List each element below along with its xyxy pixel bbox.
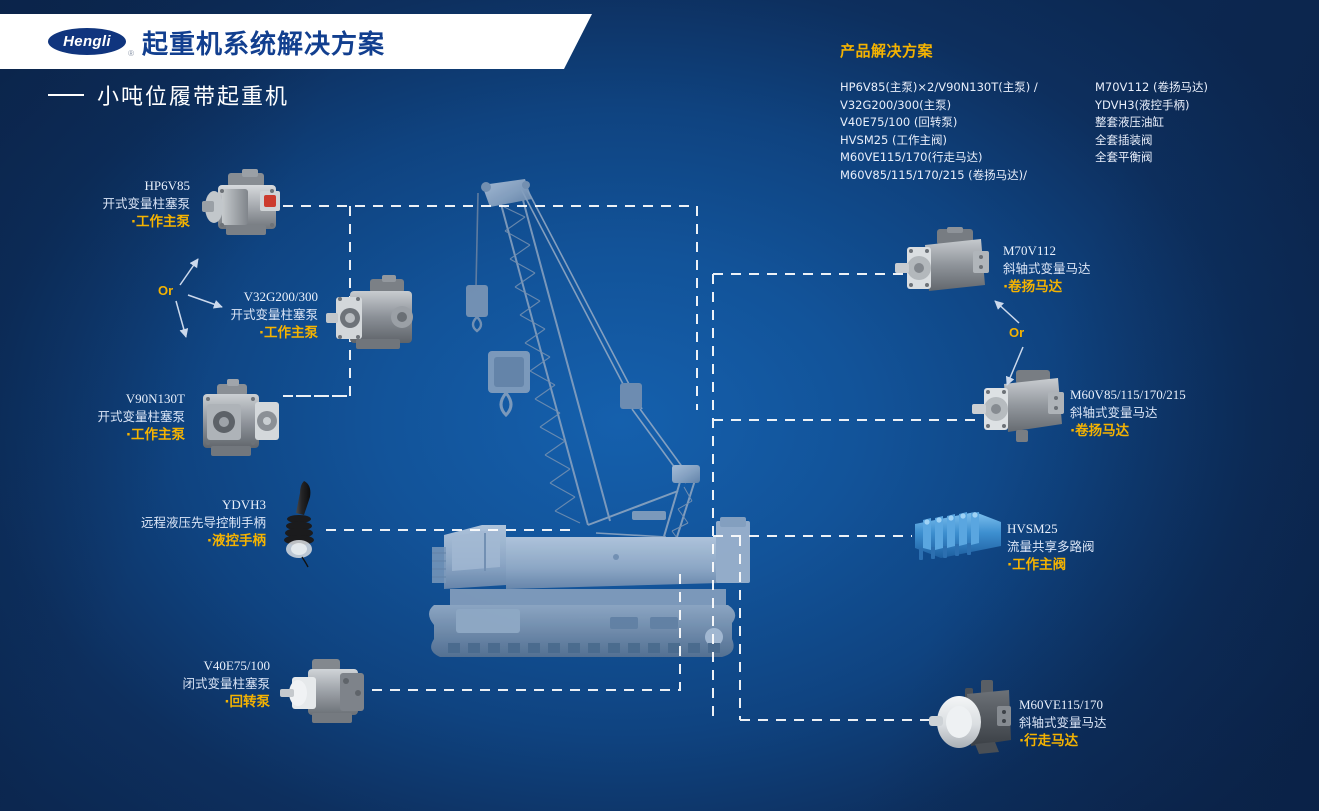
solutions-columns: HP6V85(主泵)×2/V90N130T(主泵) / V32G200/300(… [840,79,1295,184]
component-role: ·行走马达 [1019,732,1219,750]
solutions-title: 产品解决方案 [840,40,1295,61]
logo-text: Hengli [48,28,126,55]
chevron-decoration [478,14,558,69]
component-label-m60v85: M60V85/115/170/215 斜轴式变量马达 ·卷扬马达 [1070,386,1290,440]
component-desc: 开式变量柱塞泵 [80,195,190,213]
component-code: V40E75/100 [150,657,270,675]
component-code: HP6V85 [80,177,190,195]
registered-mark-icon: ® [128,49,134,58]
page-title: 起重机系统解决方案 [142,24,385,61]
solution-item: M60VE115/170(行走马达) [840,149,1095,167]
component-label-ydvh3: YDVH3 远程液压先导控制手柄 ·液控手柄 [126,496,266,550]
multi-way-valve-image [905,506,1005,564]
solution-item: M70V112 (卷扬马达) [1095,79,1295,97]
solution-item: M60V85/115/170/215 (卷扬马达)/ [840,167,1095,185]
component-desc: 斜轴式变量马达 [1019,714,1219,732]
component-label-hp6v85: HP6V85 开式变量柱塞泵 ·工作主泵 [80,177,190,231]
axial-piston-pump-image [326,275,426,357]
solution-item: YDVH3(液控手柄) [1095,97,1295,115]
or-arrows-left [150,245,260,355]
hengli-logo[interactable]: Hengli ® [48,28,126,55]
product-solutions-panel: 产品解决方案 HP6V85(主泵)×2/V90N130T(主泵) / V32G2… [840,40,1295,184]
solution-item: HP6V85(主泵)×2/V90N130T(主泵) / [840,79,1095,97]
component-label-hvsm25: HVSM25 流量共享多路阀 ·工作主阀 [1007,520,1197,574]
component-role: ·工作主泵 [80,213,190,231]
component-code: M60V85/115/170/215 [1070,386,1290,404]
subtitle-row: 小吨位履带起重机 [48,79,289,111]
component-role: ·液控手柄 [126,532,266,550]
solution-item: 全套平衡阀 [1095,149,1295,167]
component-label-v40e75: V40E75/100 闭式变量柱塞泵 ·回转泵 [150,657,270,711]
solution-item: 全套插装阀 [1095,132,1295,150]
solutions-column-left: HP6V85(主泵)×2/V90N130T(主泵) / V32G200/300(… [840,79,1095,184]
travel-motor-image [925,678,1019,760]
solution-item: V40E75/100 (回转泵) [840,114,1095,132]
component-desc: 斜轴式变量马达 [1003,260,1183,278]
component-role: ·卷扬马达 [1070,422,1290,440]
subtitle-dash-icon [48,94,84,96]
component-desc: 闭式变量柱塞泵 [150,675,270,693]
component-role: ·工作主泵 [85,426,185,444]
component-desc: 斜轴式变量马达 [1070,404,1290,422]
component-role: ·工作主阀 [1007,556,1197,574]
component-code: YDVH3 [126,496,266,514]
component-role: ·回转泵 [150,693,270,711]
component-desc: 流量共享多路阀 [1007,538,1197,556]
solutions-column-right: M70V112 (卷扬马达) YDVH3(液控手柄) 整套液压油缸 全套插装阀 … [1095,79,1295,184]
or-arrows-right [985,295,1065,395]
component-label-m70v112: M70V112 斜轴式变量马达 ·卷扬马达 [1003,242,1183,296]
component-code: M60VE115/170 [1019,696,1219,714]
axial-piston-pump-image [189,378,285,466]
component-desc: 开式变量柱塞泵 [85,408,185,426]
component-desc: 远程液压先导控制手柄 [126,514,266,532]
or-marker-left: Or [158,283,173,298]
solution-item: V32G200/300(主泵) [840,97,1095,115]
crawler-crane-illustration [420,165,790,685]
component-code: M70V112 [1003,242,1183,260]
bent-axis-motor-image [895,227,993,307]
component-label-m60ve115: M60VE115/170 斜轴式变量马达 ·行走马达 [1019,696,1219,750]
component-code: HVSM25 [1007,520,1197,538]
solution-item: HVSM25 (工作主阀) [840,132,1095,150]
component-code: V90N130T [85,390,185,408]
component-label-v90n130t: V90N130T 开式变量柱塞泵 ·工作主泵 [85,390,185,444]
component-role: ·卷扬马达 [1003,278,1183,296]
page-subtitle: 小吨位履带起重机 [97,79,289,111]
closed-circuit-pump-image [278,655,374,727]
solution-item: 整套液压油缸 [1095,114,1295,132]
axial-piston-pump-image [198,167,292,245]
joystick-image [274,479,326,569]
or-marker-right: Or [1009,325,1024,340]
